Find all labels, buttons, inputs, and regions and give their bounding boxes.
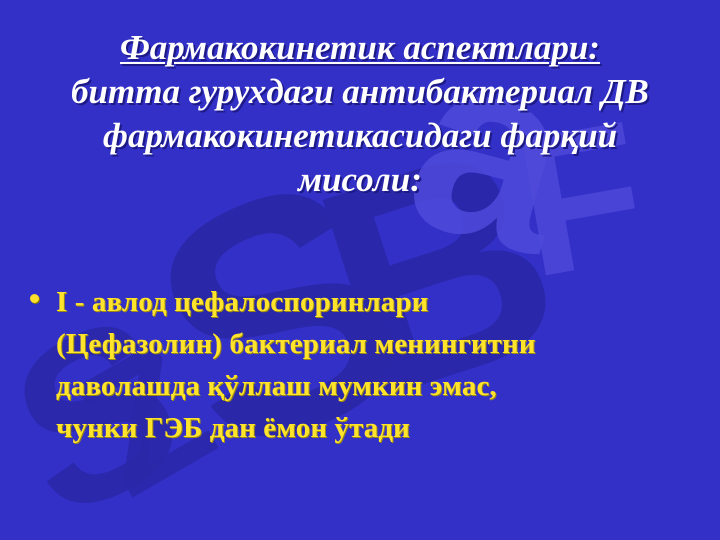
- slide-title-line-3: фармакокинетикасидаги фарқий: [0, 114, 720, 158]
- bullet-line-3: даволашда қўллаш мумкин эмас,: [56, 365, 696, 407]
- slide-title-line-4: мисоли:: [0, 158, 720, 202]
- bullet-item: I - авлод цефалоспоринлари (Цефазолин) б…: [0, 281, 720, 449]
- bullet-line-2: (Цефазолин) бактериал менингитни: [56, 323, 696, 365]
- slide-title: Фармакокинетик аспектлари: битта гурухда…: [0, 26, 720, 202]
- slide-title-line-1: Фармакокинетик аспектлари:: [0, 26, 720, 70]
- bullet-line-1: I - авлод цефалоспоринлари: [56, 281, 696, 323]
- bullet-item-text: I - авлод цефалоспоринлари (Цефазолин) б…: [56, 281, 696, 449]
- slide-content: Фармакокинетик аспектлари: битта гурухда…: [0, 0, 720, 540]
- presentation-slide: S B S a F Z Фармакокинетик аспектлари: б…: [0, 0, 720, 540]
- bullet-point-icon: [30, 281, 56, 303]
- slide-title-line-2: битта гурухдаги антибактериал ДВ: [0, 70, 720, 114]
- bullet-line-4: чунки ГЭБ дан ёмон ўтади: [56, 407, 696, 449]
- slide-body: I - авлод цефалоспоринлари (Цефазолин) б…: [0, 281, 720, 449]
